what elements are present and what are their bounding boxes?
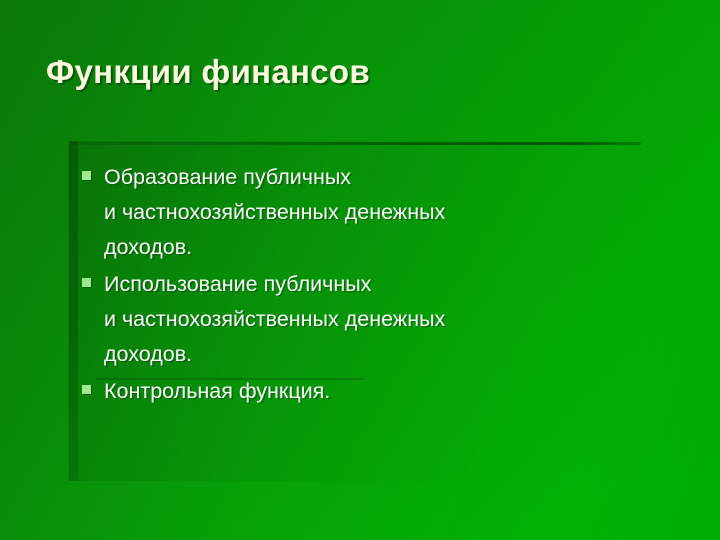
bullet-list: Образование публичных и частнохозяйствен… [82, 160, 662, 411]
content-top-divider [70, 142, 642, 145]
square-bullet-icon [82, 385, 104, 394]
presentation-slide: Функции финансов Образование публичных и… [0, 0, 720, 540]
square-bullet-icon [82, 278, 104, 287]
list-item-text: Контрольная функция. [104, 374, 662, 409]
list-item: Использование публичных и частнохозяйств… [82, 267, 662, 372]
left-accent-stripe [69, 141, 78, 481]
list-item-text: Использование публичных и частнохозяйств… [104, 267, 662, 372]
list-item: Контрольная функция. [82, 374, 662, 409]
square-bullet-icon [82, 171, 104, 180]
list-item: Образование публичных и частнохозяйствен… [82, 160, 662, 265]
list-item-text: Образование публичных и частнохозяйствен… [104, 160, 662, 265]
slide-title: Функции финансов [46, 52, 686, 92]
